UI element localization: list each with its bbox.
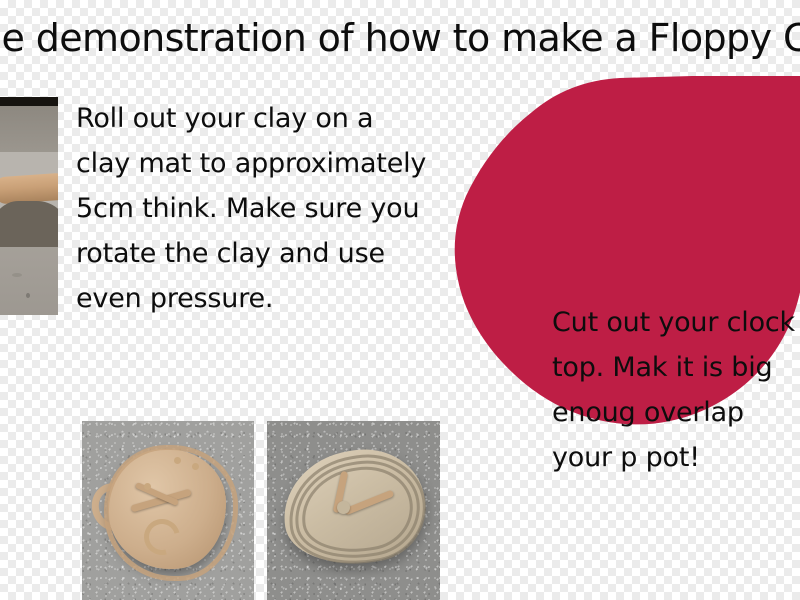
rolling-pin-photo-speck — [12, 273, 22, 277]
roll-instruction-text: Roll out your clay on a clay mat to appr… — [76, 96, 428, 321]
rolling-pin-photo-mat-lower — [0, 247, 58, 315]
rolling-pin-photo-mat-upper — [0, 106, 58, 152]
slide-canvas: he demonstration of how to make a Floppy… — [0, 0, 800, 600]
page-title: he demonstration of how to make a Floppy… — [0, 14, 800, 62]
rolling-pin-photo-pin — [0, 172, 58, 204]
image-round-clay-clock — [82, 421, 254, 600]
floppy-clock-centre-pin — [337, 501, 350, 514]
cut-instruction-text: Cut out your clock top. Mak it is big en… — [552, 300, 800, 480]
round-clock-pip — [192, 463, 199, 470]
image-rolling-pin — [0, 97, 58, 315]
slide-title-bar: he demonstration of how to make a Floppy… — [0, 14, 800, 62]
image-floppy-clay-clock — [267, 421, 440, 600]
rolling-pin-photo-speck — [26, 293, 30, 298]
round-clock-pip — [144, 483, 151, 490]
round-clock-pip — [174, 457, 181, 464]
rolling-pin-photo-top-edge — [0, 97, 58, 106]
round-clock-rim — [104, 445, 238, 581]
